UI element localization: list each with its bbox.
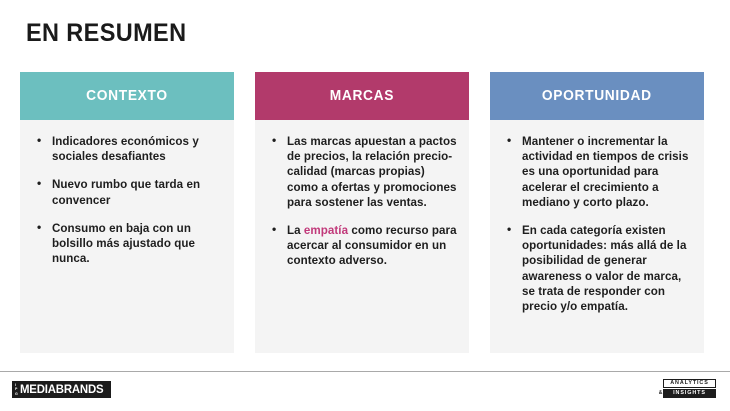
list-item: Las marcas apuestan a pactos de precios,…	[263, 134, 459, 210]
column-body-contexto: Indicadores económicos y sociales desafi…	[20, 120, 234, 353]
list-item-blue: En cada categoría existen oportunidades:…	[498, 223, 694, 314]
highlighted-word-empatia: empatía	[304, 224, 348, 237]
column-oportunidad: OPORTUNIDAD Mantener o incrementar la ac…	[490, 72, 704, 353]
analytics-row: ANALYTICS	[658, 379, 716, 388]
list-item: Consumo en baja con un bolsillo más ajus…	[28, 221, 224, 267]
column-marcas: MARCAS Las marcas apuestan a pactos de p…	[255, 72, 469, 353]
list-item: Mantener o incrementar la actividad en t…	[498, 134, 694, 210]
insights-row: & INSIGHTS	[658, 389, 716, 398]
column-header-marcas: MARCAS	[255, 72, 469, 120]
bullet-list-contexto: Indicadores económicos y sociales desafi…	[28, 134, 224, 266]
bullet-text-prefix: La	[287, 224, 304, 237]
column-header-contexto: CONTEXTO	[20, 72, 234, 120]
page-title: EN RESUMEN	[26, 19, 186, 48]
column-contexto: CONTEXTO Indicadores económicos y social…	[20, 72, 234, 353]
footer-divider	[0, 371, 730, 372]
mediabrands-wordmark: MEDIABRANDS	[20, 383, 103, 396]
ipg-mark: I P G	[15, 383, 18, 396]
ipg-mediabrands-logo: I P G MEDIABRANDS	[12, 381, 111, 398]
ipg-letter-g: G	[15, 392, 18, 396]
column-body-marcas: Las marcas apuestan a pactos de precios,…	[255, 120, 469, 353]
bullet-list-marcas: Las marcas apuestan a pactos de precios,…	[263, 134, 459, 269]
analytics-label: ANALYTICS	[663, 379, 716, 388]
list-item-empatia: La empatía como recurso para acercar al …	[263, 223, 459, 269]
slide-canvas: EN RESUMEN CONTEXTO Indicadores económic…	[0, 0, 730, 411]
column-header-label: OPORTUNIDAD	[542, 88, 652, 104]
insights-label: INSIGHTS	[663, 389, 716, 398]
column-header-oportunidad: OPORTUNIDAD	[490, 72, 704, 120]
list-item: Indicadores económicos y sociales desafi…	[28, 134, 224, 164]
summary-columns: CONTEXTO Indicadores económicos y social…	[20, 72, 710, 353]
column-header-label: CONTEXTO	[86, 88, 168, 104]
bullet-list-oportunidad: Mantener o incrementar la actividad en t…	[498, 134, 694, 314]
column-header-label: MARCAS	[330, 88, 394, 104]
list-item: Nuevo rumbo que tarda en convencer	[28, 177, 224, 207]
column-body-oportunidad: Mantener o incrementar la actividad en t…	[490, 120, 704, 353]
analytics-insights-logo: ANALYTICS & INSIGHTS	[658, 379, 716, 398]
